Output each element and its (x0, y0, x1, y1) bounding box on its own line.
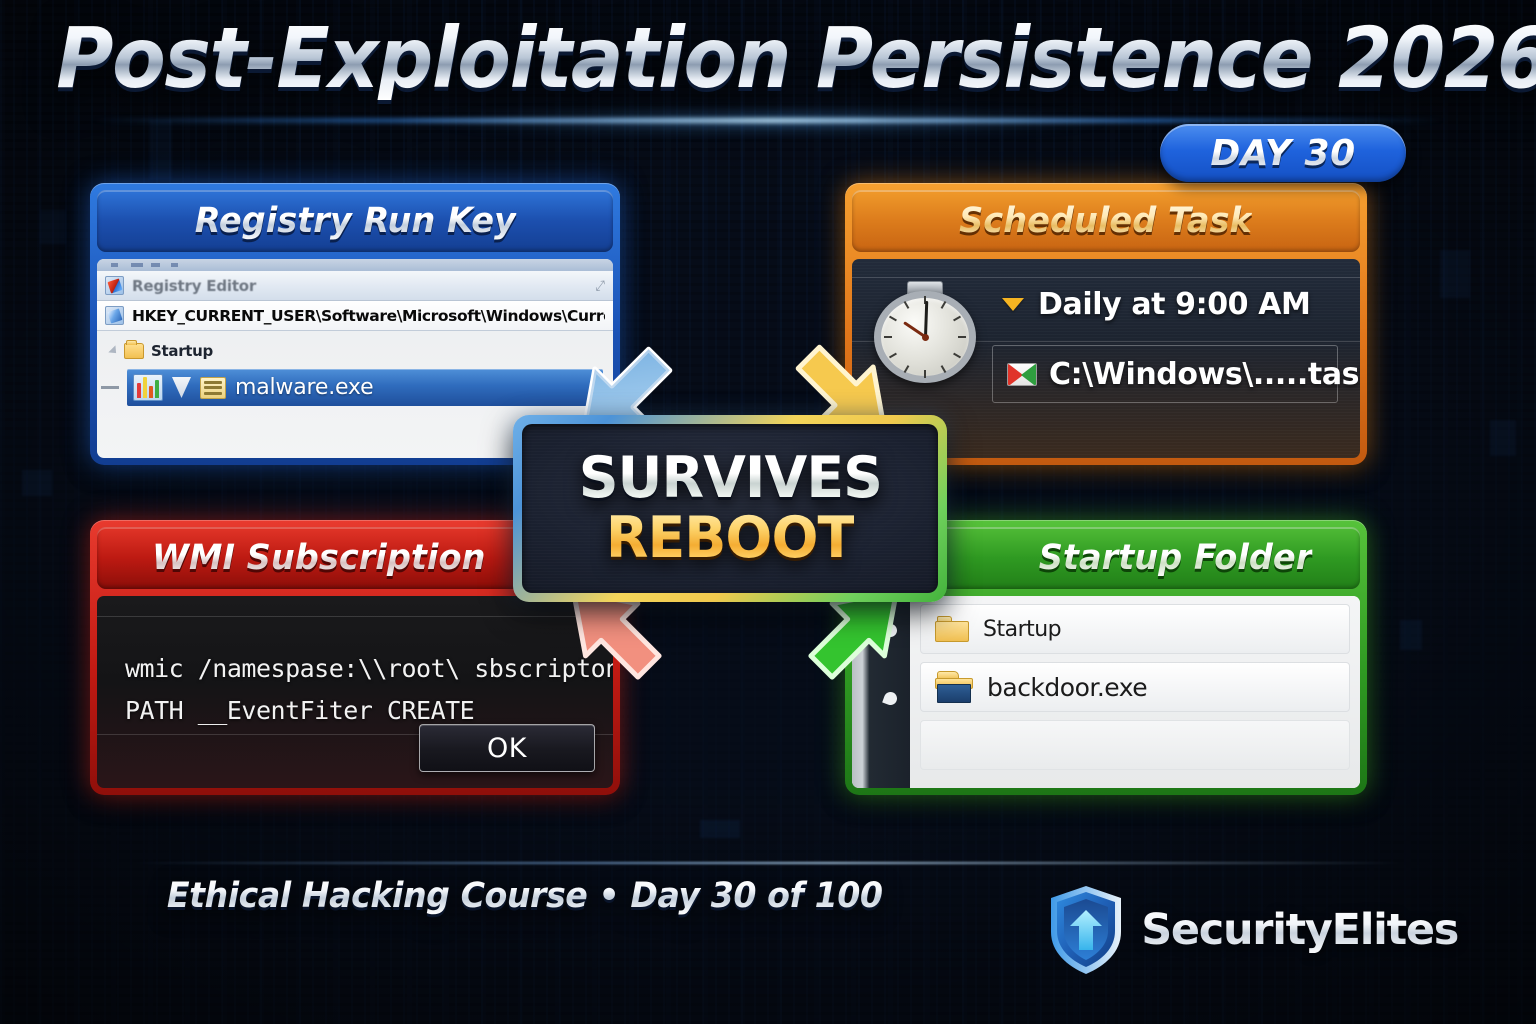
stopwatch-pin (922, 334, 929, 341)
registry-tree-node-label: Startup (151, 342, 213, 360)
ok-button[interactable]: OK (419, 724, 595, 772)
registry-tree-node-startup[interactable]: Startup (97, 337, 613, 365)
registry-menu-strip (97, 259, 613, 271)
folder-open-icon (935, 616, 969, 642)
brand-name: SecurityElites (1141, 905, 1458, 955)
registry-address-text: HKEY_CURRENT_USER\Software\Microsoft\Win… (132, 307, 605, 325)
registry-address-bar[interactable]: HKEY_CURRENT_USER\Software\Microsoft\Win… (97, 301, 613, 331)
chevron-down-icon (172, 377, 191, 398)
restore-window-icon[interactable]: ⤢ (594, 277, 607, 294)
panel-registry-title: Registry Run Key (194, 201, 515, 241)
panel-wmi-body: wmic /namespase:\\root\ sbscripton PATH … (97, 596, 613, 788)
panel-startup-body: Startup backdoor.exe (852, 596, 1360, 788)
sidebar-marker-2 (882, 690, 899, 707)
list-item[interactable]: backdoor.exe (920, 662, 1350, 712)
brand-lockup: SecurityElites (1047, 884, 1458, 976)
day-badge-label: DAY 30 (1210, 133, 1355, 174)
ok-button-label: OK (487, 733, 527, 764)
scheduled-action-row[interactable]: C:\Windows\.....task.exe (992, 345, 1338, 403)
list-item-label: Startup (983, 617, 1061, 642)
page-title-wrap: Post-Exploitation Persistence 2026 (0, 16, 1536, 100)
scheduled-trigger-row[interactable]: Daily at 9:00 AM (1002, 287, 1310, 322)
page-title: Post-Exploitation Persistence 2026 (56, 16, 1536, 100)
divider-top (97, 616, 613, 617)
scheduled-action-path: C:\Windows\.....task.exe (1049, 357, 1360, 392)
list-item[interactable]: Startup (920, 604, 1350, 654)
title-glow-line (92, 118, 1444, 123)
panel-wmi-title: WMI Subscription (152, 538, 486, 578)
stopwatch-minute-hand (924, 301, 928, 337)
wmi-console: wmic /namespase:\\root\ sbscripton PATH … (97, 596, 613, 788)
shield-arrow-icon (1047, 884, 1125, 976)
survives-reboot-badge-inner: SURVIVES REBOOT (522, 424, 938, 593)
folder-file-icon (935, 671, 973, 703)
survives-reboot-badge: SURVIVES REBOOT (513, 415, 947, 602)
registry-value-name: malware.exe (235, 375, 373, 400)
panel-registry-header: Registry Run Key (97, 190, 613, 252)
panel-scheduled-title: Scheduled Task (960, 201, 1253, 241)
list-item-label: backdoor.exe (987, 673, 1147, 702)
registry-editor-icon (105, 276, 124, 295)
registry-titlebar: Registry Editor ⤢ (97, 271, 613, 301)
scheduled-trigger-text: Daily at 9:00 AM (1038, 287, 1310, 322)
wmi-command-line-2: PATH __EventFiter CREATE (125, 696, 593, 725)
registry-value-row-selected[interactable]: malware.exe (127, 369, 603, 406)
panel-startup-title: Startup Folder (1039, 538, 1313, 578)
survives-reboot-line2: REBOOT (606, 511, 854, 567)
registry-pen-icon (105, 306, 124, 325)
registry-titlebar-text: Registry Editor (132, 277, 256, 295)
explorer-file-list: Startup backdoor.exe (910, 596, 1360, 788)
mail-icon (1007, 363, 1037, 386)
list-lines-icon (200, 377, 226, 399)
survives-reboot-line1: SURVIVES (578, 451, 881, 507)
footer-caption: Ethical Hacking Course • Day 30 of 100 (167, 876, 883, 916)
panel-scheduled-header: Scheduled Task (852, 190, 1360, 252)
explorer-window: Startup backdoor.exe (852, 596, 1360, 788)
day-badge: DAY 30 (1160, 124, 1406, 182)
caret-down-icon (1002, 298, 1024, 311)
chevron-right-icon (108, 345, 119, 356)
colored-bars-icon (133, 374, 163, 401)
folder-icon (124, 343, 144, 359)
list-item-empty (920, 720, 1350, 770)
footer-divider (130, 862, 1406, 864)
wmi-command-line-1: wmic /namespase:\\root\ sbscripton (125, 654, 593, 683)
registry-tree: Startup malware.exe (97, 331, 613, 406)
divider-top (852, 277, 1360, 278)
